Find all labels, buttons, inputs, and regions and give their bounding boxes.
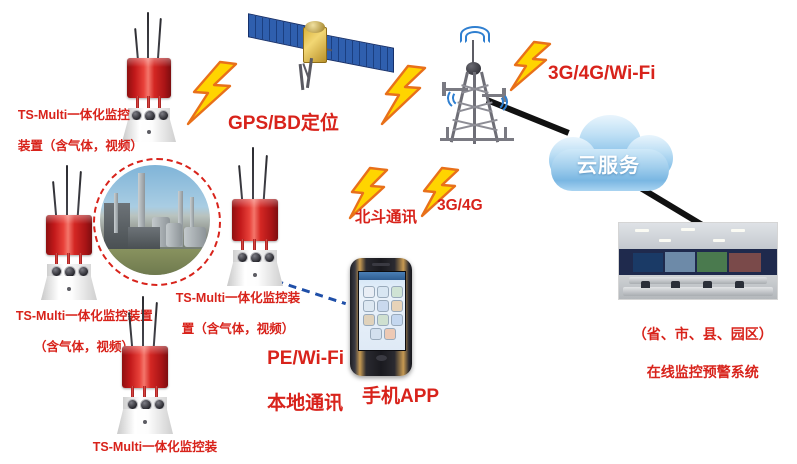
tower-wifi-arc-mid [465, 31, 485, 43]
control-room-ceiling [619, 223, 777, 249]
app-icon-6[interactable] [391, 300, 403, 312]
lightning-icon-satellite-right [380, 66, 432, 124]
device-bottom-label-line1: TS-Multi一体化监控装 [93, 440, 217, 454]
device-top-left-label-line2: 装置（含气体，视频） [18, 139, 143, 153]
control-room-label-line1: （省、市、县、园区） [633, 326, 773, 342]
link-label-3g4g: 3G/4G [437, 196, 483, 215]
control-room-label-line2: 在线监控预警系统 [647, 364, 759, 380]
satellite-dish [305, 21, 325, 33]
link-label-beidou: 北斗通讯 [355, 208, 417, 227]
link-label-local-comm-line2: 本地通讯 [267, 393, 343, 414]
sensor-port-left [131, 110, 142, 121]
link-label-local-comm-line1: PE/Wi-Fi [267, 348, 344, 369]
sensor-port-right [154, 399, 165, 410]
app-icon-4[interactable] [363, 300, 375, 312]
ceiling-light-3 [731, 229, 745, 232]
diagram-canvas: 云服务 TS-Multi一体化监控 装置（含气体，视频） [0, 0, 797, 464]
app-icon-11[interactable] [384, 328, 396, 340]
device-indicator-dot [67, 287, 71, 291]
device-body [122, 346, 168, 388]
sensor-port-left [127, 399, 138, 410]
video-wall-panel-2 [665, 252, 695, 272]
device-bottom[interactable] [108, 296, 188, 424]
device-indicator-dot [147, 130, 151, 134]
app-icon-1[interactable] [363, 286, 375, 298]
app-icon-5[interactable] [377, 300, 389, 312]
video-wall-panel-4 [729, 253, 761, 272]
app-icon-7[interactable] [363, 314, 375, 326]
operator-desk-front [623, 287, 773, 296]
app-icon-10[interactable] [370, 328, 382, 340]
sensor-port-right [158, 110, 169, 121]
device-middle-right[interactable] [218, 145, 298, 273]
operator-chair-1 [641, 281, 650, 288]
sensor-port-left [237, 252, 248, 263]
phone-screen [358, 271, 406, 351]
phone-status-bar [359, 272, 405, 280]
device-bottom-label: TS-Multi一体化监控装 置（含气体，视频） [76, 424, 220, 464]
cloud-label: 云服务 [577, 149, 640, 178]
device-top-left-label: TS-Multi一体化监控 装置（含气体，视频） [4, 92, 128, 170]
tower-base-platform [440, 138, 514, 141]
refinery-photo [100, 165, 210, 275]
refinery-tower-lattice [114, 193, 118, 233]
sensor-port-left [51, 266, 62, 277]
refinery-ground [100, 249, 210, 275]
video-wall-panel-1 [633, 253, 663, 272]
link-label-gps-bd: GPS/BD定位 [228, 112, 339, 136]
sensor-port-right [264, 252, 275, 263]
phone-home-button[interactable] [376, 355, 387, 361]
satellite-icon [248, 12, 393, 94]
device-body [127, 58, 171, 98]
ceiling-light-5 [713, 239, 725, 242]
app-icon-3[interactable] [391, 286, 403, 298]
operator-chair-3 [703, 281, 712, 288]
control-room-photo [618, 222, 778, 300]
ceiling-light-2 [681, 228, 695, 231]
app-icon-2[interactable] [377, 286, 389, 298]
cloud-service-icon[interactable]: 云服务 [545, 115, 675, 195]
device-body [46, 215, 92, 255]
operator-chair-4 [735, 281, 744, 288]
refinery-drum [184, 227, 206, 247]
tower-antenna-panel-left [442, 82, 446, 96]
link-label-3g4g-wifi: 3G/4G/Wi-Fi [548, 62, 656, 86]
handheld-device-icon[interactable] [350, 258, 412, 376]
ceiling-light-4 [659, 239, 671, 242]
refinery-shed [128, 227, 160, 249]
phone-label: 手机APP [362, 385, 439, 409]
app-icon-9[interactable] [391, 314, 403, 326]
phone-speaker [372, 263, 390, 266]
device-middle-right-label-line1: TS-Multi一体化监控装 [176, 291, 300, 305]
app-icon-8[interactable] [377, 314, 389, 326]
sensor-port-right [78, 266, 89, 277]
link-label-local-comm: PE/Wi-Fi 本地通讯 [246, 326, 344, 438]
tower-base-foot-right [504, 127, 507, 141]
control-room-label: （省、市、县、园区） 在线监控预警系统 [600, 306, 790, 400]
ceiling-light-1 [635, 229, 649, 232]
video-wall-panel-3 [697, 252, 727, 272]
tower-base-foot-left [446, 127, 449, 141]
operator-chair-2 [671, 281, 680, 288]
device-top-left-label-line1: TS-Multi一体化监控 [18, 108, 130, 122]
refinery-tank-2 [166, 223, 182, 247]
device-body [232, 199, 278, 241]
